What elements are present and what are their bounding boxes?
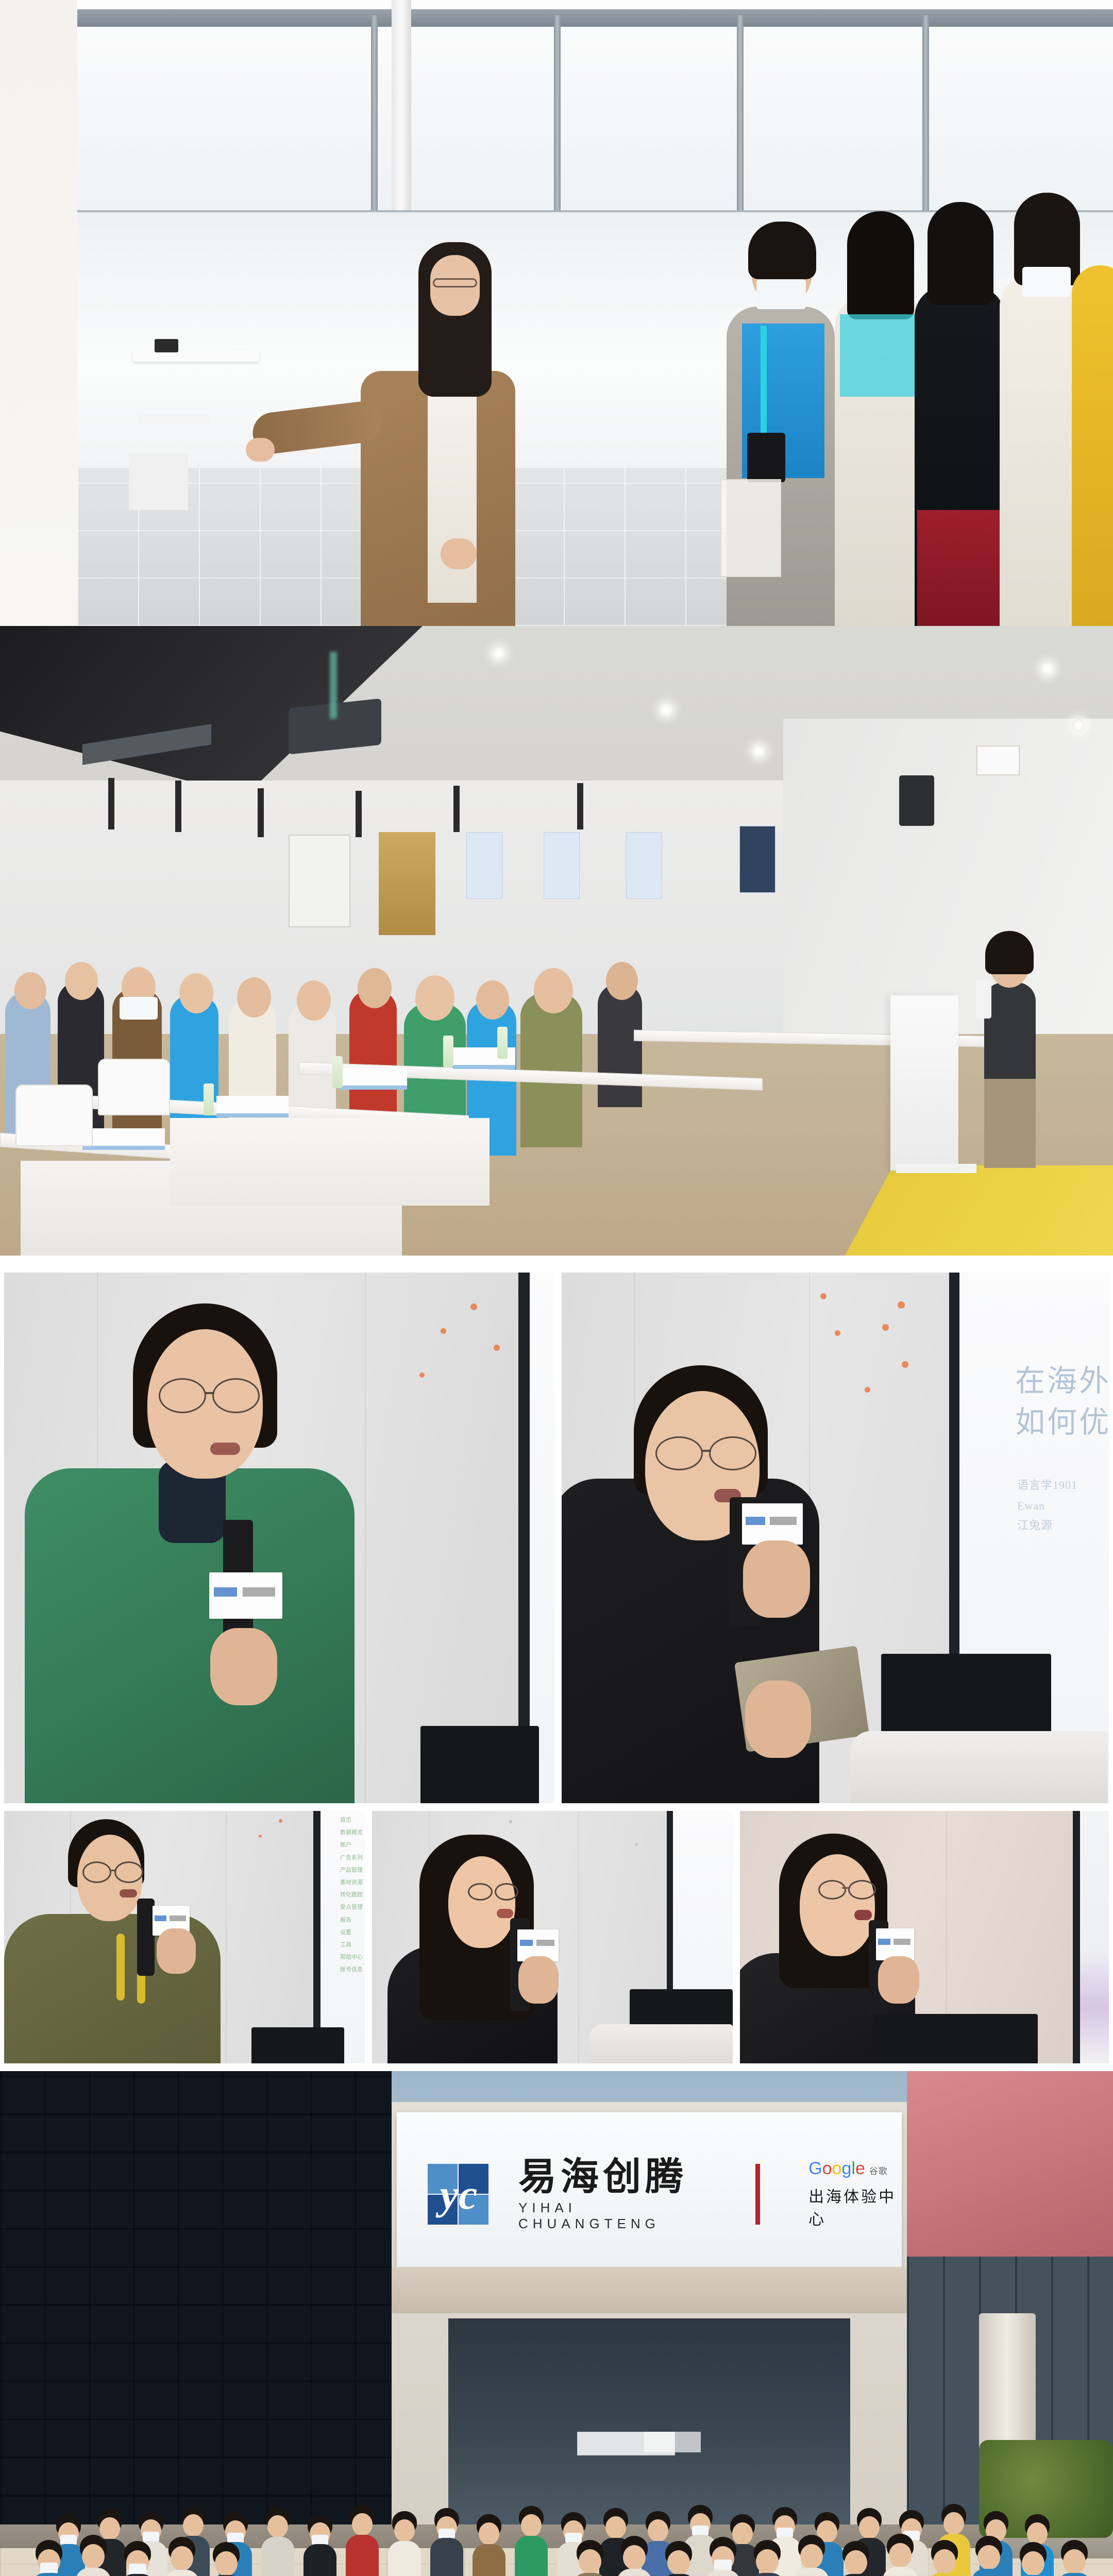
group-member bbox=[749, 2540, 785, 2576]
slide-sidebar-item: 转化跟踪 bbox=[340, 1889, 363, 1901]
presenter-glasses bbox=[433, 278, 477, 287]
yihai-logo: yc bbox=[428, 2164, 488, 2225]
pendant-lamp bbox=[258, 788, 264, 837]
eyeglasses-left-lens bbox=[818, 1880, 846, 1900]
microphone-flag-logo bbox=[746, 1517, 765, 1525]
photo-seminar-room bbox=[0, 626, 1113, 1256]
wall-speaker bbox=[899, 775, 934, 826]
slide-sidebar-item: 广告系列 bbox=[340, 1852, 363, 1864]
group-member bbox=[31, 2540, 67, 2576]
microphone-flag bbox=[876, 1928, 914, 1960]
decorative-dot bbox=[835, 1330, 840, 1336]
group-member bbox=[838, 2541, 874, 2576]
slide-sidebar-item: 账号信息 bbox=[340, 1963, 363, 1976]
visiting-student-group bbox=[711, 191, 1113, 626]
experience-center-name: 出海体验中心 bbox=[808, 2184, 902, 2229]
photo-collage-page: 在海外 如何优 语言学1901 Ewan 江兔源 首页 数据概览 bbox=[0, 0, 1113, 2576]
microphone-flag-text bbox=[536, 1940, 554, 1946]
pendant-lamp bbox=[108, 778, 114, 829]
wooden-door[interactable] bbox=[379, 832, 435, 935]
pendant-lamp bbox=[356, 791, 362, 837]
downlight bbox=[660, 703, 673, 717]
student-yellow-coat bbox=[1072, 265, 1113, 626]
slide-sidebar-item: 设置 bbox=[340, 1926, 363, 1939]
slide-sidebar-item: 首页 bbox=[340, 1814, 363, 1826]
face-mask bbox=[120, 997, 158, 1020]
laptop-screen bbox=[420, 1726, 539, 1803]
group-member bbox=[1056, 2540, 1092, 2576]
speaker-hand bbox=[878, 1956, 919, 2004]
student-hair bbox=[927, 202, 993, 305]
downlight bbox=[752, 744, 766, 758]
wall-seam bbox=[226, 1811, 227, 2063]
attendee-head bbox=[237, 977, 271, 1018]
water-bottle bbox=[443, 1036, 453, 1067]
lectern bbox=[850, 1731, 1108, 1803]
photo-group-at-building: yc 易海创腾 YIHAI CHUANGTENG Google 谷歌 出海体验中… bbox=[0, 2071, 1113, 2576]
presenter-pointing-hand bbox=[246, 438, 275, 462]
slide-sidebar-item: 素材资源 bbox=[340, 1876, 363, 1889]
company-name-block: 易海创腾 YIHAI CHUANGTENG bbox=[518, 2157, 703, 2232]
entrance-canopy bbox=[392, 2267, 907, 2313]
eyeglasses-bridge bbox=[842, 1887, 849, 1889]
lectern bbox=[588, 2024, 733, 2063]
eyeglasses-left-lens bbox=[82, 1861, 111, 1883]
decorative-dot bbox=[882, 1324, 889, 1331]
eyeglasses-bridge bbox=[110, 1870, 116, 1871]
decorative-dot bbox=[898, 1301, 905, 1309]
eyeglasses-left-lens bbox=[655, 1436, 703, 1470]
presenter-clasped-hands bbox=[441, 538, 477, 569]
interior-partner-sign bbox=[644, 2432, 701, 2452]
glass-facade-left bbox=[0, 2071, 392, 2535]
photo-speaker-black-blazer bbox=[372, 1811, 733, 2063]
company-name-chinese: 易海创腾 bbox=[518, 2157, 703, 2197]
wall-poster bbox=[739, 826, 775, 893]
group-member bbox=[794, 2535, 830, 2576]
speaker-hand bbox=[157, 1928, 196, 1974]
decorative-dot bbox=[820, 1293, 827, 1299]
photo-office-tour bbox=[0, 0, 1113, 626]
downlight bbox=[492, 647, 505, 660]
eyeglasses-right-lens bbox=[495, 1883, 518, 1901]
photo-speaker-green-sweater bbox=[4, 1273, 554, 1803]
microphone-flag-logo bbox=[155, 1916, 166, 1922]
group-member bbox=[120, 2541, 156, 2576]
decorative-dot bbox=[509, 1820, 512, 1823]
water-bottle bbox=[204, 1083, 214, 1115]
group-member bbox=[926, 2540, 963, 2576]
building-sign: yc 易海创腾 YIHAI CHUANGTENG Google 谷歌 出海体验中… bbox=[397, 2112, 902, 2267]
laptop-screen bbox=[873, 2014, 1038, 2063]
slide-byline-chinese-name: 江兔源 bbox=[1017, 1519, 1053, 1532]
wall-notice bbox=[976, 745, 1020, 775]
laptop-screen bbox=[881, 1654, 1051, 1736]
face-mask bbox=[756, 279, 806, 309]
face-mask bbox=[1022, 267, 1071, 297]
speaker-face bbox=[448, 1856, 515, 1948]
attendee-head bbox=[534, 968, 573, 1013]
eyeglasses-left-lens bbox=[468, 1883, 493, 1901]
attendee-head bbox=[358, 968, 392, 1008]
decorative-dot bbox=[441, 1328, 446, 1334]
tote-bag bbox=[720, 479, 781, 577]
slide-sidebar-item: 账户 bbox=[340, 1839, 363, 1851]
table-name-card bbox=[340, 1068, 407, 1090]
group-member bbox=[661, 2541, 697, 2576]
window-header-beam bbox=[77, 9, 1113, 27]
attendee-head bbox=[606, 962, 638, 1000]
slide-sidebar-item: 报告 bbox=[340, 1914, 363, 1926]
downlight bbox=[1072, 719, 1085, 732]
water-bottle bbox=[497, 1027, 508, 1059]
screen-frame-edge bbox=[518, 1273, 530, 1803]
decorative-dot bbox=[470, 1303, 477, 1310]
google-wordmark: Google bbox=[808, 2159, 865, 2179]
speaker-hand bbox=[518, 1956, 559, 2004]
table-name-card bbox=[82, 1128, 165, 1150]
screen-frame-edge bbox=[313, 1811, 321, 2063]
side-cabinet bbox=[129, 453, 188, 510]
group-member bbox=[971, 2536, 1007, 2576]
water-bottle bbox=[332, 1056, 343, 1088]
decorative-dot bbox=[635, 1843, 638, 1846]
slide-sidebar-item: 帮助中心 bbox=[340, 1951, 363, 1963]
slide-title-line-1: 在海外 bbox=[1015, 1364, 1109, 1399]
photo-speaker-olive-hoodie: 首页 数据概览 账户 广告系列 产品管理 素材资源 转化跟踪 受众管理 报告 设… bbox=[4, 1811, 365, 2063]
sign-divider bbox=[755, 2164, 760, 2225]
pendant-lamp bbox=[175, 781, 181, 832]
slide-sidebar-menu: 首页 数据概览 账户 广告系列 产品管理 素材资源 转化跟踪 受众管理 报告 设… bbox=[340, 1814, 363, 1976]
eyeglasses-bridge bbox=[205, 1392, 214, 1394]
projection-screen bbox=[1080, 1811, 1109, 2063]
attendee bbox=[598, 984, 642, 1107]
speaker-hand bbox=[210, 1628, 277, 1705]
group-member bbox=[208, 2542, 244, 2576]
decorative-dot bbox=[494, 1345, 500, 1351]
group-member bbox=[164, 2537, 200, 2576]
eyeglasses-right-lens bbox=[709, 1436, 756, 1470]
microphone-flag bbox=[209, 1572, 282, 1619]
wall-poster bbox=[466, 832, 502, 899]
held-phone bbox=[747, 433, 785, 482]
decorative-dot bbox=[902, 1361, 908, 1368]
green-light-streak bbox=[330, 652, 337, 719]
microphone-flag-logo bbox=[878, 1939, 890, 1945]
projection-screen-edge bbox=[530, 1273, 554, 1803]
slide-byline-english-name: Ewan bbox=[1017, 1499, 1045, 1512]
microphone-flag bbox=[742, 1503, 803, 1545]
slide-sidebar-item: 产品管理 bbox=[340, 1864, 363, 1876]
group-member bbox=[705, 2537, 741, 2576]
group-member bbox=[1015, 2542, 1051, 2576]
microphone-flag-text bbox=[170, 1916, 186, 1922]
side-table bbox=[133, 350, 259, 362]
attendee-head bbox=[415, 975, 454, 1021]
attendee-head bbox=[14, 972, 46, 1009]
group-member bbox=[882, 2534, 918, 2576]
wall-poster bbox=[626, 832, 662, 899]
eyeglasses-bridge bbox=[702, 1450, 711, 1452]
eyeglasses-right-lens bbox=[212, 1378, 260, 1413]
speaker-face bbox=[800, 1854, 875, 1956]
table-front-panel bbox=[170, 1118, 490, 1206]
microphone-flag-text bbox=[893, 1939, 910, 1945]
speaker-mouth bbox=[497, 1909, 513, 1918]
company-name-english: YIHAI CHUANGTENG bbox=[518, 2200, 703, 2232]
microphone-body bbox=[137, 1899, 155, 1976]
wall-seam bbox=[578, 1811, 579, 2063]
student-hair bbox=[847, 211, 914, 319]
microphone-flag-logo bbox=[214, 1587, 237, 1597]
handheld-microphone bbox=[976, 979, 991, 1019]
group-member bbox=[616, 2536, 652, 2576]
pendant-lamp bbox=[577, 783, 583, 829]
group-member bbox=[572, 2540, 608, 2576]
speaker-mouth bbox=[210, 1443, 240, 1455]
desk-device bbox=[155, 339, 178, 352]
eyeglasses-left-lens bbox=[159, 1378, 206, 1413]
microphone-flag-text bbox=[770, 1517, 797, 1525]
slide-title-line-2: 如何优 bbox=[1015, 1405, 1109, 1440]
student-hair bbox=[748, 222, 816, 279]
partner-block: Google 谷歌 出海体验中心 bbox=[808, 2159, 902, 2229]
eyeglasses-right-lens bbox=[848, 1880, 876, 1900]
lectern-top bbox=[896, 1164, 976, 1173]
logo-monogram: yc bbox=[430, 2171, 487, 2218]
decorative-dot bbox=[259, 1835, 262, 1838]
slide-byline-class: 语言学1901 bbox=[1017, 1479, 1077, 1492]
eyeglasses-right-lens bbox=[114, 1861, 143, 1883]
side-table-lower-shelf bbox=[138, 415, 210, 424]
attendee-head bbox=[476, 980, 509, 1020]
photo-speaker-black-tshirt: 在海外 如何优 语言学1901 Ewan 江兔源 bbox=[562, 1273, 1109, 1803]
downlight bbox=[1041, 662, 1054, 675]
lectern bbox=[890, 995, 958, 1171]
group-front-row bbox=[26, 2524, 1087, 2576]
attendee-head bbox=[179, 973, 213, 1013]
presenter-shirt bbox=[428, 381, 477, 603]
slide-sidebar-item: 受众管理 bbox=[340, 1901, 363, 1913]
screen-frame-edge bbox=[1073, 1811, 1080, 2063]
slide-sidebar-item: 工具 bbox=[340, 1939, 363, 1951]
door-frame[interactable] bbox=[289, 835, 350, 927]
microphone-flag-logo bbox=[520, 1940, 533, 1946]
pendant-lamp bbox=[453, 786, 460, 832]
speaker-mouth bbox=[120, 1889, 137, 1897]
photo-speaker-black-top bbox=[740, 1811, 1109, 2063]
lanyard bbox=[761, 326, 767, 439]
attendee-head bbox=[65, 962, 98, 1000]
structural-column bbox=[392, 0, 411, 216]
wall-poster bbox=[544, 832, 580, 899]
google-localized-name: 谷歌 bbox=[869, 2164, 888, 2177]
speaker-body bbox=[984, 982, 1036, 1168]
student-scarf bbox=[840, 314, 922, 397]
speaker-hand bbox=[743, 1540, 810, 1618]
decorative-dot bbox=[419, 1372, 425, 1378]
wall-seam bbox=[365, 1273, 366, 1803]
attendee-head bbox=[297, 980, 331, 1021]
speaker-second-hand bbox=[745, 1681, 811, 1758]
decorative-dot bbox=[865, 1387, 870, 1393]
decorative-dot bbox=[279, 1819, 282, 1823]
group-member bbox=[75, 2535, 111, 2576]
hoodie-drawstring-left bbox=[116, 1934, 125, 2001]
microphone-flag-text bbox=[243, 1587, 275, 1597]
stacking-chair bbox=[98, 1059, 170, 1115]
table-name-card bbox=[216, 1096, 289, 1117]
laptop-screen bbox=[251, 2027, 344, 2063]
speaker-mouth bbox=[854, 1910, 872, 1920]
stacking-chair bbox=[15, 1084, 93, 1146]
slide-sidebar-item: 数据概览 bbox=[340, 1826, 363, 1839]
speaker-hair bbox=[985, 931, 1034, 974]
